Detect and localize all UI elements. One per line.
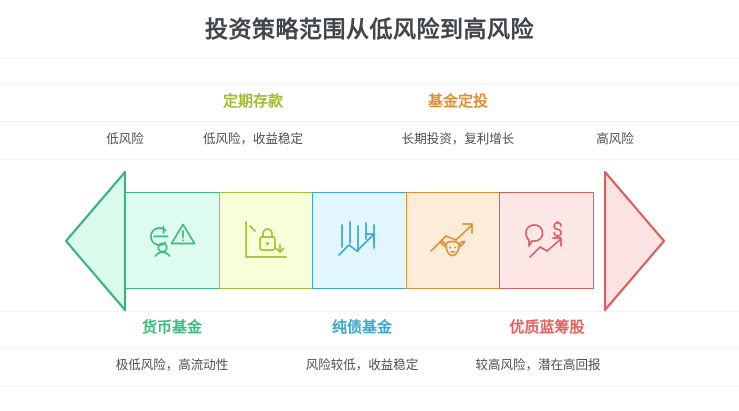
category-desc-pure-bond-fund: 风险较低，收益稳定 xyxy=(272,357,452,374)
megaphone-dollar-uptrend-icon xyxy=(520,217,574,265)
category-desc-fund-sip: 长期投资，复利增长 xyxy=(368,131,548,148)
arrow-left-icon xyxy=(64,170,126,312)
risk-scale-high-label: 高风险 xyxy=(556,131,674,148)
bull-uptrend-icon xyxy=(426,217,480,265)
category-box-fund-sip[interactable] xyxy=(406,192,501,289)
currency-warning-icon xyxy=(146,217,200,265)
category-name-fund-sip: 基金定投 xyxy=(368,92,548,112)
category-desc-money-fund: 极低风险，高流动性 xyxy=(82,357,262,374)
category-name-blue-chip-stocks: 优质蓝筹股 xyxy=(467,318,627,338)
category-box-blue-chip-stocks[interactable] xyxy=(499,192,594,289)
risk-spectrum xyxy=(64,170,666,312)
candlestick-trend-icon xyxy=(333,217,387,265)
category-name-time-deposit: 定期存款 xyxy=(163,92,343,112)
category-name-money-fund: 货币基金 xyxy=(82,318,262,338)
category-desc-blue-chip-stocks: 较高风险，潜在高回报 xyxy=(467,357,609,374)
page-title: 投资策略范围从低风险到高风险 xyxy=(0,14,739,44)
category-box-row xyxy=(125,192,594,289)
lock-chart-icon xyxy=(239,217,293,265)
category-box-time-deposit[interactable] xyxy=(219,192,314,289)
category-box-pure-bond-fund[interactable] xyxy=(312,192,407,289)
category-desc-time-deposit: 低风险，收益稳定 xyxy=(163,131,343,148)
category-box-money-fund[interactable] xyxy=(125,192,220,289)
infographic-canvas: 投资策略范围从低风险到高风险 低风险 定期存款 低风险，收益稳定 基金定投 长期… xyxy=(0,0,739,411)
arrow-right-icon xyxy=(604,170,666,312)
category-name-pure-bond-fund: 纯债基金 xyxy=(272,318,452,338)
